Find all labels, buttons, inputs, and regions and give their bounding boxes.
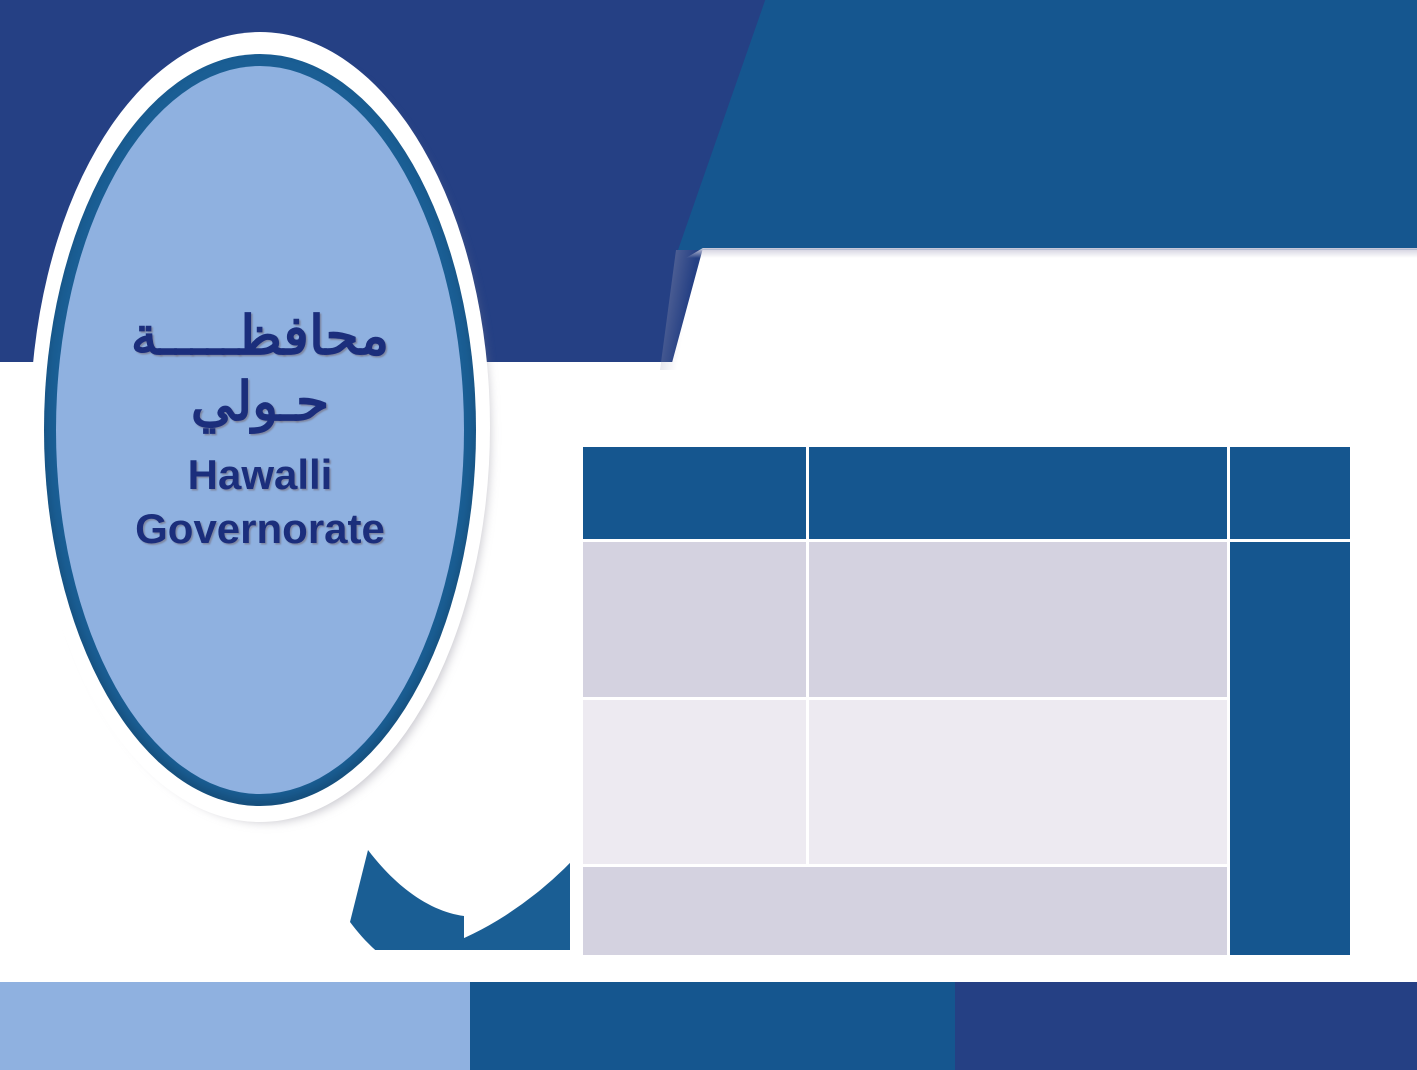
table-header-cell-3[interactable]	[1230, 447, 1350, 539]
governorate-badge: محافظـــــة حـولي Hawalli Governorate	[30, 32, 490, 822]
bottom-strip-segment-mid	[470, 982, 955, 1070]
bottom-strip-segment-dark	[955, 982, 1417, 1070]
badge-title-arabic-line1: محافظـــــة	[56, 304, 464, 370]
table-cell-text-r1c1	[583, 542, 806, 559]
table-header-label-3	[1231, 485, 1349, 502]
badge-title-english-line1: Hawalli	[56, 448, 464, 502]
bottom-accent-strip	[0, 982, 1417, 1070]
badge-title-english-line2: Governorate	[56, 502, 464, 556]
table-row	[583, 542, 1350, 697]
table-cell-r1c2[interactable]	[809, 542, 1227, 697]
content-table	[580, 444, 1353, 958]
table-cell-text-accent	[1230, 542, 1350, 559]
table-cell-text-r3	[583, 867, 1227, 884]
badge-text-block: محافظـــــة حـولي Hawalli Governorate	[56, 66, 464, 794]
table-header-label-1	[584, 485, 805, 502]
table-cell-r3-merged[interactable]	[583, 867, 1227, 955]
blue-header-band-shape	[678, 0, 1417, 250]
table-cell-text-r2c2	[809, 700, 1227, 717]
bottom-strip-segment-light	[0, 982, 470, 1070]
table-header-cell-2[interactable]	[809, 447, 1227, 539]
table-cell-text-r1c2	[809, 542, 1227, 559]
table-cell-text-r2c1	[583, 700, 806, 717]
table-header-label-2	[810, 485, 1226, 502]
table-cell-r2c2[interactable]	[809, 700, 1227, 864]
table-cell-r2c1[interactable]	[583, 700, 806, 864]
table-accent-column-cell[interactable]	[1230, 542, 1350, 955]
table-header-cell-1[interactable]	[583, 447, 806, 539]
table-cell-r1c1[interactable]	[583, 542, 806, 697]
blue-band-shadow	[686, 248, 1417, 258]
badge-title-arabic-line2: حـولي	[56, 370, 464, 436]
table-header-row	[583, 447, 1350, 539]
slide-canvas: محافظـــــة حـولي Hawalli Governorate	[0, 0, 1417, 1070]
